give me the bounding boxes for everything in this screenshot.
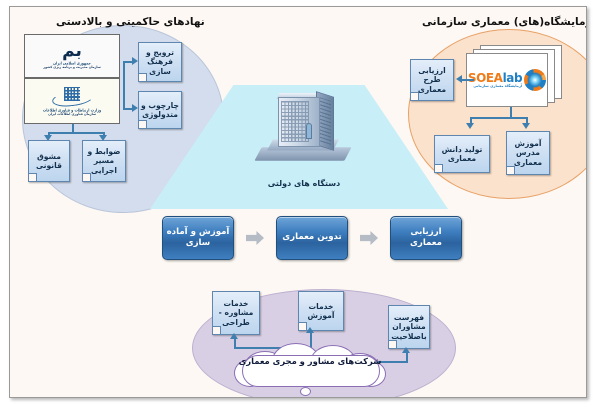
box-instructor-label: آموزش مدرس معماری <box>509 139 547 167</box>
arrowhead-incentive <box>44 135 52 141</box>
connector-lab-to-eval <box>462 79 474 81</box>
lab-sheet-front: SOEAlab آزمایشگاه معماری سازمانی <box>466 53 548 107</box>
box-design-eval-label: ارزیابی طرح معماری <box>413 66 451 94</box>
box-qualified-list[interactable]: فهرست مشاوران باصلاحیت <box>388 305 430 349</box>
connector-left-spine <box>123 63 125 109</box>
process-step-training-label: آموزش و آماده سازی <box>165 227 231 249</box>
box-framework-label: چارچوب و متدولوژی <box>141 101 179 120</box>
arrowhead-framework <box>132 104 138 112</box>
box-instructor[interactable]: آموزش مدرس معماری <box>506 131 550 175</box>
arrowhead-design-eval <box>456 75 462 83</box>
arrowhead-consult-design <box>230 333 238 339</box>
government-building-icon <box>256 93 350 175</box>
box-knowledge-label: تولید دانش معماری <box>437 145 487 164</box>
box-regulations[interactable]: ضوابط و مسیر اجرایی <box>82 140 126 182</box>
box-incentive-label: مشوق قانونی <box>31 152 67 171</box>
box-knowledge[interactable]: تولید دانش معماری <box>434 135 490 173</box>
soealab-word-blue: lab <box>503 71 523 85</box>
arrowhead-promotion <box>132 57 138 65</box>
process-arrow-2 <box>246 231 264 245</box>
soealab-word-orange: SOEA <box>468 71 503 85</box>
box-framework[interactable]: چارچوب و متدولوژی <box>138 91 182 129</box>
box-promotion[interactable]: ترویج و فرهنگ سازی <box>138 42 182 82</box>
box-incentive[interactable]: مشوق قانونی <box>28 140 70 182</box>
soealab-subtitle: آزمایشگاه معماری سازمانی <box>468 85 522 89</box>
soealab-swirl-icon <box>524 69 546 91</box>
right-group-title: آزمایشگاه(های) معماری سازمانی <box>422 16 587 28</box>
box-design-eval[interactable]: ارزیابی طرح معماری <box>410 59 454 101</box>
logo-card-ito: وزارت ارتباطات و فناوری اطلاعات سازمان ف… <box>24 78 120 124</box>
process-step-development[interactable]: تدوین معماری <box>276 216 348 260</box>
box-consult-design[interactable]: خدمات مشاوره - طراحی <box>212 291 260 335</box>
soealab-card-stack: SOEAlab آزمایشگاه معماری سازمانی <box>466 53 562 107</box>
connector-bottom-split <box>48 132 104 134</box>
box-training-services[interactable]: خدمات آموزش <box>298 291 344 331</box>
center-label: دستگاه های دولتی <box>246 179 362 188</box>
box-consult-design-label: خدمات مشاوره - طراحی <box>215 299 257 327</box>
diagram-canvas: نهادهای حاکمیتی و بالادستی آزمایشگاه(های… <box>0 0 600 412</box>
logo-card-pbo: بم جمهوری اسلامی ایران سازمان مدیریت و ب… <box>24 34 120 78</box>
box-regulations-label: ضوابط و مسیر اجرایی <box>85 147 123 175</box>
process-step-evaluation[interactable]: ارزیابی معماری <box>390 216 462 260</box>
box-qualified-list-label: فهرست مشاوران باصلاحیت <box>391 313 427 341</box>
process-step-development-label: تدوین معماری <box>282 232 341 243</box>
box-promotion-label: ترویج و فرهنگ سازی <box>141 48 179 76</box>
arrowhead-regulations <box>99 135 107 141</box>
arrowhead-qualified-list <box>402 347 410 353</box>
connector-lab-split <box>470 117 528 119</box>
diagram-frame: نهادهای حاکمیتی و بالادستی آزمایشگاه(های… <box>9 6 587 398</box>
ito-caption-line1: وزارت ارتباطات و فناوری اطلاعات <box>43 107 101 112</box>
arrowhead-knowledge <box>466 123 474 129</box>
left-group-title: نهادهای حاکمیتی و بالادستی <box>56 16 205 28</box>
process-step-training[interactable]: آموزش و آماده سازی <box>162 216 234 260</box>
logo-caption-line2: سازمان مدیریت و برنامه ریزی کشور <box>43 65 101 69</box>
process-step-evaluation-label: ارزیابی معماری <box>393 227 459 249</box>
connector-cloud-to-list-v <box>406 353 408 363</box>
logo-caption-line1: جمهوری اسلامی ایران <box>53 61 91 66</box>
iran-emblem-icon: بم <box>62 43 82 60</box>
process-arrow-1 <box>360 231 378 245</box>
box-training-services-label: خدمات آموزش <box>301 302 341 321</box>
cloud-label: شرکت‌های مشاور و مجری معماری <box>234 356 386 367</box>
consulting-companies-cloud: شرکت‌های مشاور و مجری معماری <box>234 343 386 393</box>
ito-swoosh-icon <box>50 86 94 106</box>
arrowhead-instructor <box>522 123 530 129</box>
